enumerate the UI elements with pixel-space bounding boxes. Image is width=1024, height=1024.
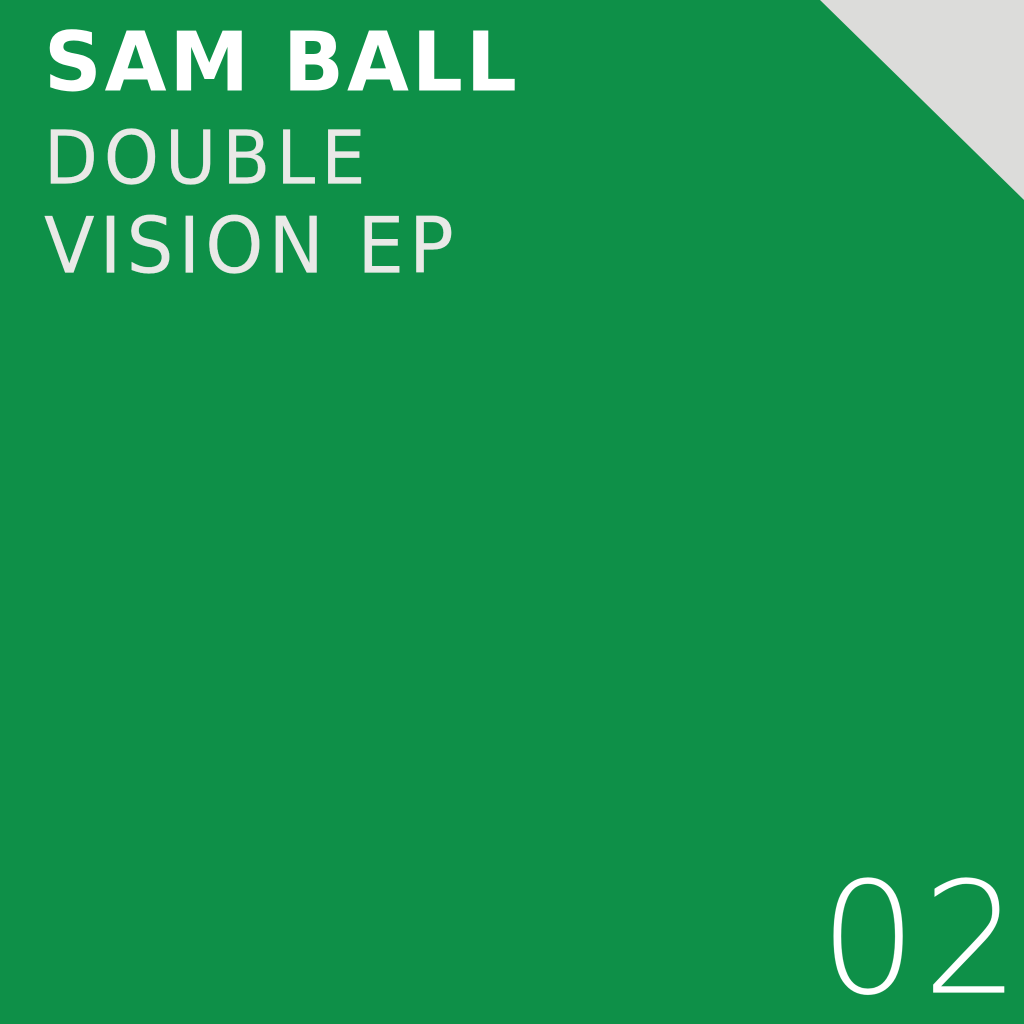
release-title-line-2: VISION EP (44, 204, 924, 288)
album-cover-artwork: SAM BALL DOUBLE VISION EP 02 (0, 0, 1024, 1024)
artist-name: SAM BALL (44, 22, 924, 104)
title-block: SAM BALL DOUBLE VISION EP (44, 22, 924, 284)
catalog-number: 02 (820, 862, 1024, 1017)
release-title-line-1: DOUBLE (44, 118, 924, 199)
